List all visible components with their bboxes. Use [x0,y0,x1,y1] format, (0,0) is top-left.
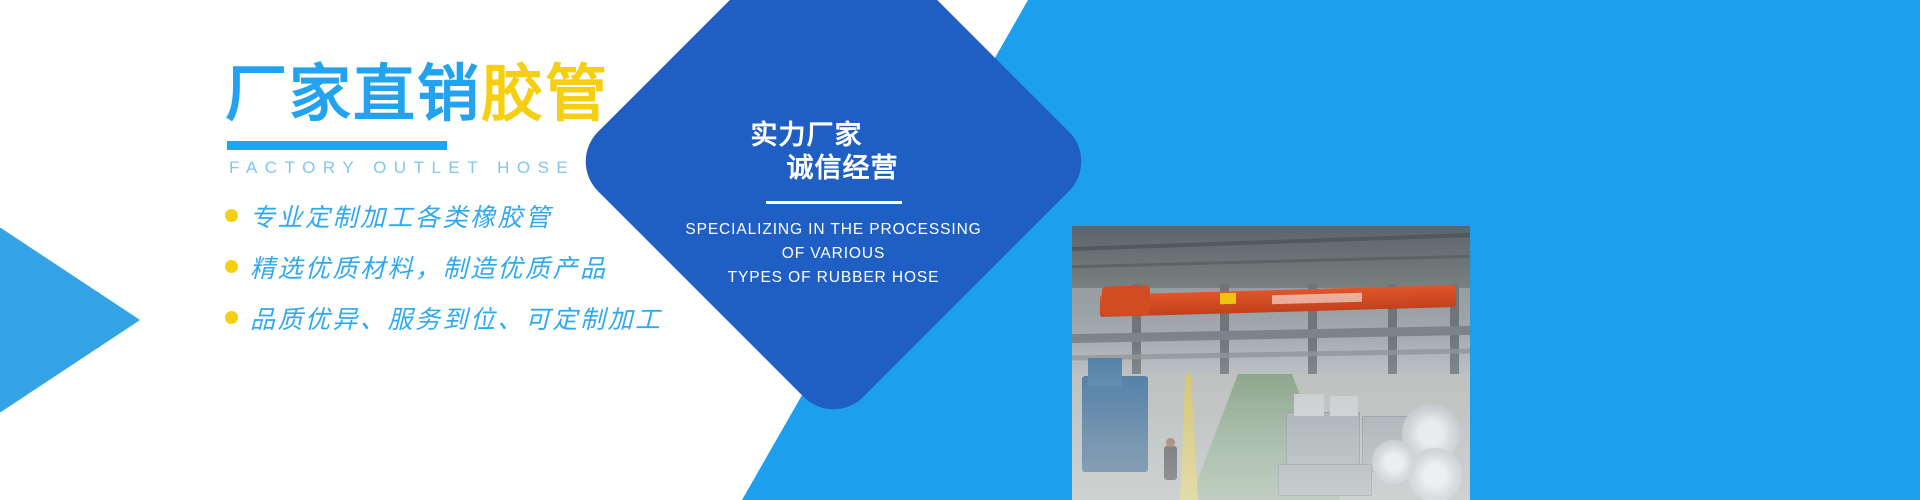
list-item: 品质优异、服务到位、可定制加工 [225,300,695,336]
main-headline: 厂家直销胶管 [225,62,695,129]
bullet-text: 专业定制加工各类橡胶管 [250,198,553,234]
bullet-dot-icon [225,260,238,273]
diamond-cn-line-2: 诚信经营 [787,152,899,185]
bullet-dot-icon [225,209,238,222]
diamond-english-text: SPECIALIZING IN THE PROCESSING OF VARIOU… [685,218,981,290]
diamond-en-line-3: TYPES OF RUBBER HOSE [685,266,981,290]
diamond-en-line-2: OF VARIOUS [685,242,981,266]
diamond-cn-line-1: 实力厂家 [715,119,899,152]
diamond-chinese-heading: 实力厂家 诚信经营 [769,119,899,185]
promo-banner: 实力厂家 诚信经营 SPECIALIZING IN THE PROCESSING… [0,0,1920,500]
diamond-divider [766,201,902,204]
bullet-dot-icon [225,311,238,324]
headline-underline [227,141,447,150]
headline-block: 厂家直销胶管 FACTORY OUTLET HOSE 专业定制加工各类橡胶管 精… [225,62,695,351]
photo-haze-overlay [1072,226,1470,500]
left-chevron-decoration [0,148,140,492]
headline-blue-text: 厂家直销 [225,60,481,129]
headline-subtitle-english: FACTORY OUTLET HOSE [229,158,695,178]
headline-yellow-text: 胶管 [481,60,609,129]
factory-photo [1072,226,1470,500]
diamond-content: 实力厂家 诚信经营 SPECIALIZING IN THE PROCESSING… [646,0,1021,349]
list-item: 专业定制加工各类橡胶管 [225,198,695,234]
bullet-text: 品质优异、服务到位、可定制加工 [250,300,663,336]
diamond-en-line-1: SPECIALIZING IN THE PROCESSING [685,218,981,242]
list-item: 精选优质材料，制造优质产品 [225,249,695,285]
feature-bullet-list: 专业定制加工各类橡胶管 精选优质材料，制造优质产品 品质优异、服务到位、可定制加… [225,198,695,336]
bullet-text: 精选优质材料，制造优质产品 [250,249,608,285]
